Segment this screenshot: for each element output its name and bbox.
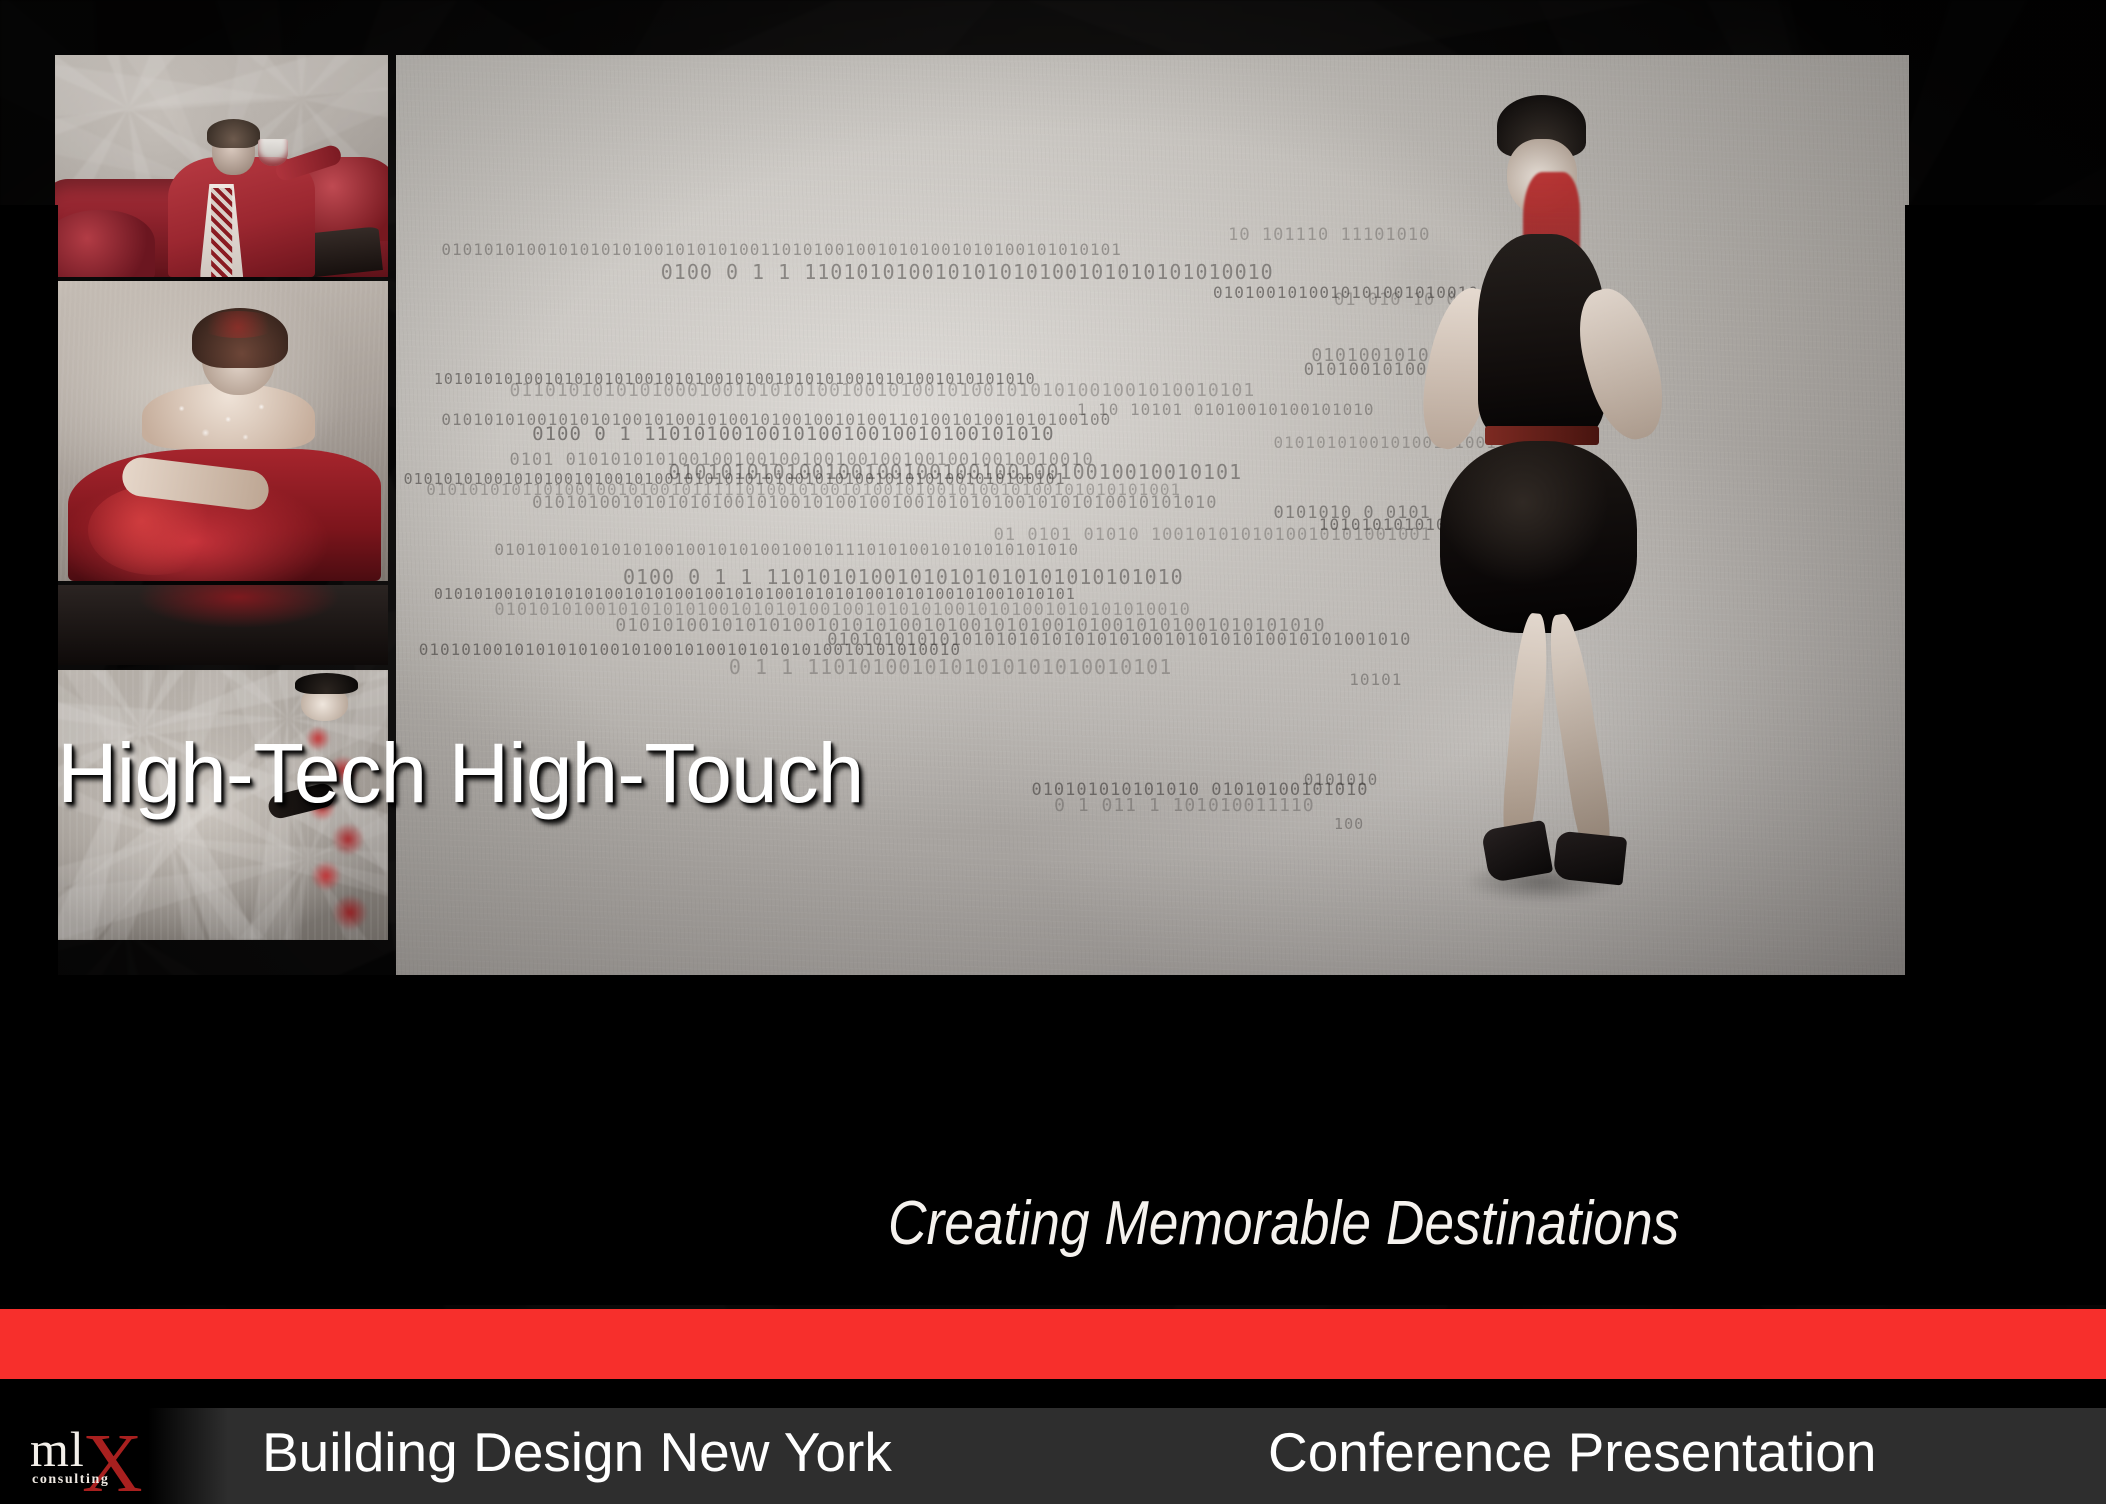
lace-glove-detail [155, 395, 288, 449]
mlx-subtext: consulting [32, 1472, 109, 1488]
thumb3-red-glow [122, 585, 355, 633]
wine-glass [258, 139, 288, 166]
mlx-wordmark: ml [30, 1424, 85, 1474]
brand-red-bar: W I L S O N A S S O C I A T E S [0, 1309, 2106, 1379]
page-title: High-Tech High-Touch [57, 725, 863, 822]
woman-red-hair-highlight [198, 311, 278, 338]
footer-event-label: Building Design New York [262, 1420, 892, 1484]
mlx-consulting-logo: X ml consulting [14, 1410, 164, 1500]
mlx-x-accent: X [82, 1422, 143, 1504]
dark-band-photo [55, 585, 388, 665]
boa-woman-headpiece [295, 673, 358, 695]
left-photo-strip [55, 55, 388, 1095]
model-binary-code-photo: 10 101110 111010100101010100101010101001… [396, 55, 1909, 1055]
red-sofa-arm [55, 210, 155, 277]
man-red-suit-wine-photo [55, 55, 388, 277]
hero-vignette [396, 55, 1909, 1055]
footer-presentation-label: Conference Presentation [1268, 1420, 1876, 1484]
man-hair [207, 119, 260, 148]
woman-short-hair-red-dress-photo [55, 281, 388, 581]
man-patterned-tie [211, 188, 233, 277]
presentation-slide: 10 101110 111010100101010100101010101001… [0, 0, 2106, 1504]
slide-tagline: Creating Memorable Destinations [888, 1188, 1679, 1259]
